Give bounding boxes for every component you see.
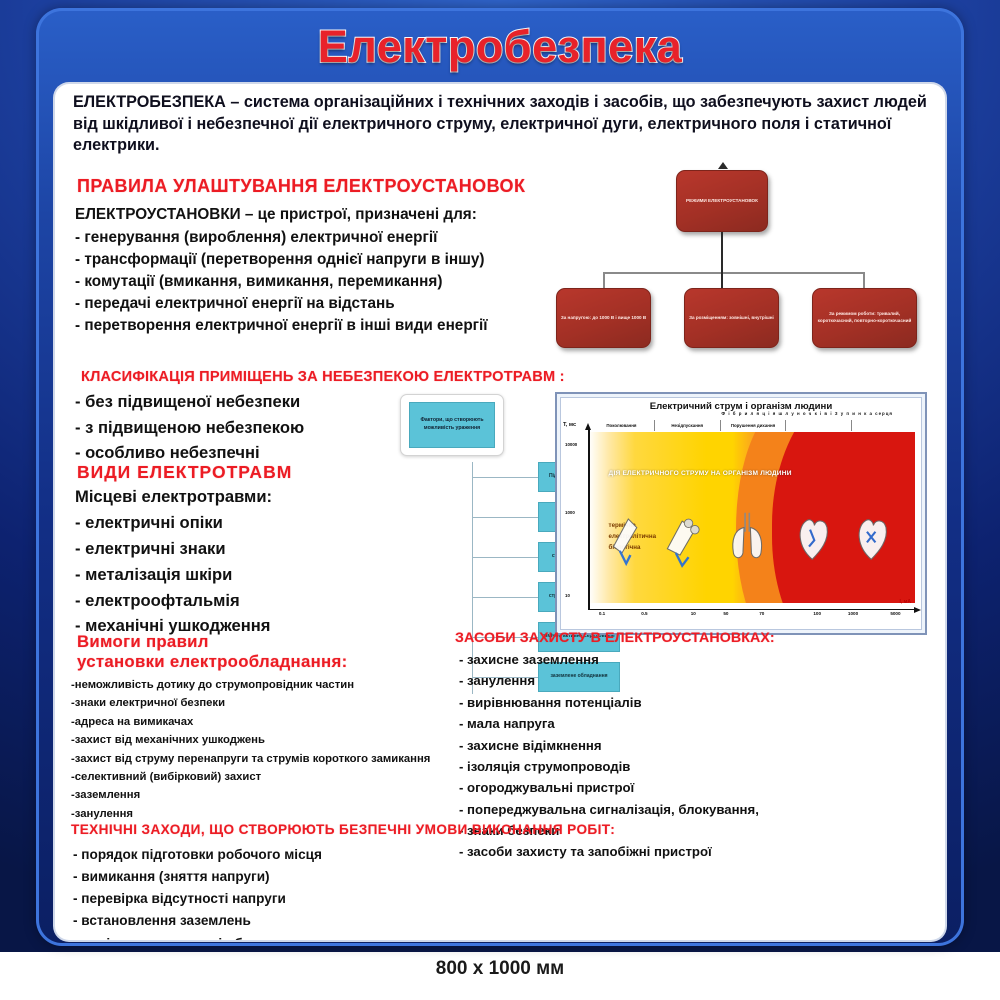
types-heading: ВИДИ ЕЛЕКТРОТРАВМ — [77, 462, 292, 483]
chart-col-header: Незідпускання — [655, 420, 721, 431]
branch-leg — [472, 557, 538, 558]
chart-x-axis — [589, 609, 917, 611]
branch-leg — [472, 597, 538, 598]
org-child-box-placement: За розміщенням: зовнішні, внутрішні — [684, 288, 779, 348]
rules-heading: ПРАВИЛА УЛАШТУВАННЯ ЕЛЕКТРОУСТАНОВОК — [77, 176, 525, 197]
y-axis-arrow-icon — [585, 423, 591, 430]
list-item: - генерування (вироблення) електричної е… — [75, 227, 545, 249]
chart-x-tick: 50 — [723, 611, 728, 616]
classification-heading: КЛАСИФІКАЦІЯ ПРИМІЩЕНЬ ЗА НЕБЕЗПЕКОЮ ЕЛЕ… — [81, 369, 565, 385]
list-item: -знаки електричної безпеки — [71, 694, 451, 712]
list-item: -селективний (вибірковий) захист — [71, 768, 451, 786]
list-item: - вивішування плакатів безпеки — [73, 933, 593, 940]
chart-x-tick: 100 — [813, 611, 821, 616]
list-item: - огороджувальні пристрої — [459, 777, 809, 798]
chart-y-axis — [588, 428, 590, 610]
chart-x-tick: 0.1 — [599, 611, 605, 616]
hand-icon — [605, 483, 647, 589]
poster-stand: Електробезпека ЕЛЕКТРОБЕЗПЕКА – система … — [0, 0, 1000, 952]
org-child-box-mode: За режимом роботи: тривалий, короткочасн… — [812, 288, 917, 348]
org-child-box-voltage: За напругою: до 1000 В і вище 1000 В — [556, 288, 651, 348]
branch-leg — [472, 477, 538, 478]
chart-x-tick: 70 — [759, 611, 764, 616]
arrow-up-icon — [718, 162, 728, 169]
list-item: - електричні опіки — [75, 510, 405, 536]
list-item: - порядок підготовки робочого місця — [73, 844, 593, 866]
list-item: -захист від механічних ушкоджень — [71, 731, 451, 749]
branch-leg — [472, 517, 538, 518]
connector-drop-3 — [863, 272, 865, 288]
list-item: - трансформації (перетворення однієї нап… — [75, 249, 545, 271]
requirements-heading-line1: Вимоги правил — [77, 632, 377, 652]
protection-heading: ЗАСОБИ ЗАХИСТУ В ЕЛЕКТРОУСТАНОВКАХ: — [455, 630, 775, 646]
chart-col-header: Поколювання — [589, 420, 655, 431]
current-effect-chart: Електричний струм і організм людини Ф і … — [555, 392, 927, 635]
chart-x-ticks: 0.1 0.5 10 50 70 100 1000 5000 — [589, 611, 915, 620]
list-item: - комутації (вмикання, вимикання, переми… — [75, 271, 545, 293]
page-title: Електробезпека — [318, 21, 683, 73]
hand-grip-icon — [661, 483, 703, 589]
chart-column-headers: Поколювання Незідпускання Порушення диха… — [589, 420, 917, 431]
chart-y-axis-label: T, мс — [563, 422, 576, 428]
chart-plot-area: ДІЯ ЕЛЕКТРИЧНОГО СТРУМУ НА ОРГАНІЗМ ЛЮДИ… — [589, 432, 915, 603]
heart-icon — [791, 483, 833, 589]
chart-col-header-spacer — [852, 420, 917, 431]
x-axis-arrow-icon — [914, 607, 921, 613]
chart-fibrillation-header: Ф і б р и л я ц і я ш л у н о ч к і в і … — [721, 411, 893, 416]
list-item: - занулення — [459, 670, 809, 691]
chart-y-tick: 1000 — [565, 510, 575, 515]
factors-card-label: Фактори, що створюють можливість ураженн… — [409, 402, 495, 448]
list-item: - передачі електричної енергії на відста… — [75, 293, 545, 315]
list-item: - електроофтальмія — [75, 588, 405, 614]
electroinstallations-lead: ЕЛЕКТРОУСТАНОВКИ – це пристрої, призначе… — [75, 204, 545, 226]
chart-x-tick: 1000 — [848, 611, 858, 616]
chart-x-tick: 10 — [691, 611, 696, 616]
list-item: - встановлення заземлень — [73, 910, 593, 932]
connector-drop-2 — [721, 272, 723, 288]
org-chart-diagram: РЕЖИМИ ЕЛЕКТРОУСТАНОВОК За напругою: до … — [550, 166, 925, 361]
list-item: - вирівнювання потенціалів — [459, 692, 809, 713]
connector-drop-1 — [603, 272, 605, 288]
chart-col-header-spacer — [786, 420, 852, 431]
classification-list: - без підвищеної небезпеки - з підвищено… — [75, 389, 405, 466]
list-item: - без підвищеної небезпеки — [75, 389, 405, 415]
title-bar: Електробезпека — [70, 14, 930, 80]
requirements-list: -неможливість дотику до струмопровідник … — [71, 676, 451, 823]
types-lead: Місцеві електротравми: — [75, 484, 405, 510]
list-item: - металізація шкіри — [75, 562, 405, 588]
list-item: - ізоляція струмопроводів — [459, 756, 809, 777]
list-item: -заземлення — [71, 786, 451, 804]
list-item: - з підвищеною небезпекою — [75, 415, 405, 441]
technical-list: - порядок підготовки робочого місця - ви… — [73, 844, 593, 940]
list-item: - попереджувальна сигналізація, блокуван… — [459, 799, 809, 820]
chart-overlay-label: ДІЯ ЕЛЕКТРИЧНОГО СТРУМУ НА ОРГАНІЗМ ЛЮДИ… — [609, 470, 792, 477]
electroinstallations-block: ЕЛЕКТРОУСТАНОВКИ – це пристрої, призначе… — [75, 204, 545, 337]
list-item: -адреса на вимикачах — [71, 713, 451, 731]
intro-paragraph: ЕЛЕКТРОБЕЗПЕКА – система організаційних … — [73, 92, 928, 157]
chart-x-axis-label: I, мА — [900, 599, 911, 605]
chart-inner: Електричний струм і організм людини Ф і … — [560, 397, 922, 630]
size-caption: 800 x 1000 мм — [0, 958, 1000, 980]
list-item: - вимикання (зняття напруги) — [73, 866, 593, 888]
technical-heading: ТЕХНІЧНІ ЗАХОДИ, ЩО СТВОРЮЮТЬ БЕЗПЕЧНІ У… — [71, 822, 931, 837]
chart-y-tick: 10000 — [565, 442, 577, 447]
connector-vertical — [721, 232, 723, 272]
requirements-heading-line2: установки електрообладнання: — [77, 652, 377, 672]
list-item: -захист від струму перенапруги та струмі… — [71, 750, 451, 768]
content-sheet: ЕЛЕКТРОБЕЗПЕКА – система організаційних … — [55, 84, 945, 940]
requirements-heading: Вимоги правил установки електрообладнанн… — [77, 632, 377, 672]
chart-col-header: Порушення дихання — [721, 420, 787, 431]
list-item: - захисне відімкнення — [459, 735, 809, 756]
list-item: - перевірка відсутності напруги — [73, 888, 593, 910]
factors-card: Фактори, що створюють можливість ураженн… — [400, 394, 504, 456]
org-root-box: РЕЖИМИ ЕЛЕКТРОУСТАНОВОК — [676, 170, 768, 232]
list-item: - мала напруга — [459, 713, 809, 734]
types-list: Місцеві електротравми: - електричні опік… — [75, 484, 405, 639]
list-item: - захисне заземлення — [459, 649, 809, 670]
chart-y-tick: 10 — [565, 593, 570, 598]
list-item: - електричні знаки — [75, 536, 405, 562]
list-item: -неможливість дотику до струмопровідник … — [71, 676, 451, 694]
chart-x-tick: 0.5 — [641, 611, 647, 616]
lungs-icon — [726, 483, 768, 589]
list-item: -занулення — [71, 805, 451, 823]
chart-x-tick: 5000 — [890, 611, 900, 616]
list-item: - перетворення електричної енергії в інш… — [75, 315, 545, 337]
heart-stopped-icon — [850, 483, 892, 589]
connector-horizontal — [603, 272, 865, 274]
